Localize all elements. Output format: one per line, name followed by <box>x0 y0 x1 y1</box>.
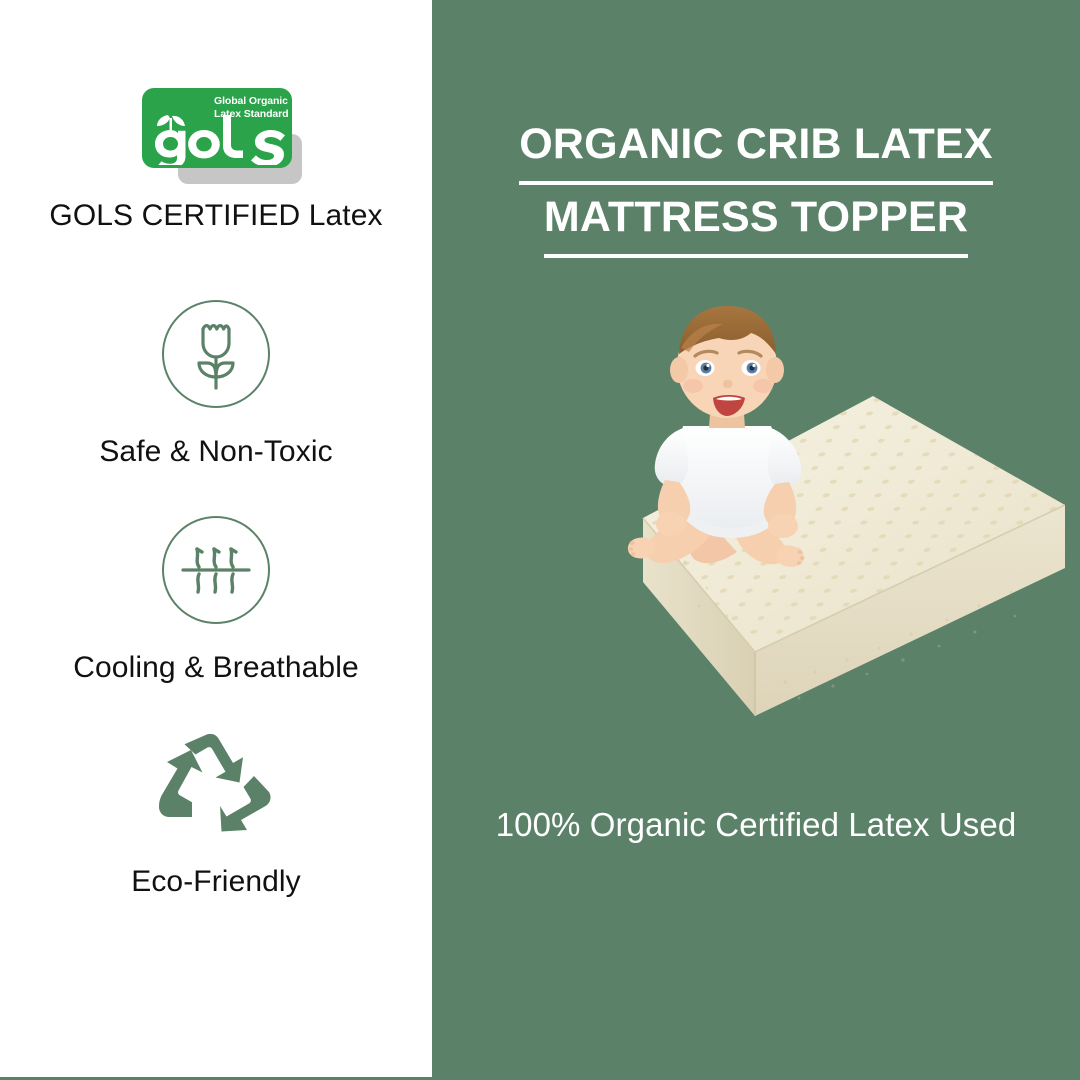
feature-label: GOLS CERTIFIED Latex <box>0 196 432 236</box>
feature-label: Cooling & Breathable <box>0 648 432 688</box>
features-column: Global Organic Latex Standard GOLS CERTI… <box>0 0 432 1080</box>
recycle-icon <box>156 732 276 836</box>
feature-list: GOLS CERTIFIED Latex <box>0 196 432 908</box>
gols-wordmark-icon <box>151 113 291 165</box>
feature-eco-friendly: Eco-Friendly <box>0 732 432 902</box>
baby-on-mattress-illustration <box>455 300 1065 750</box>
feature-label: Safe & Non-Toxic <box>0 432 432 472</box>
infographic-page: Global Organic Latex Standard GOLS CERTI… <box>0 0 1080 1080</box>
page-title: ORGANIC CRIB LATEX MATTRESS TOPPER <box>452 112 1060 258</box>
page-title-line-2: MATTRESS TOPPER <box>544 185 968 258</box>
tulip-flower-icon <box>162 300 270 408</box>
feature-safe-non-toxic: Safe & Non-Toxic <box>0 300 432 472</box>
page-title-line-1: ORGANIC CRIB LATEX <box>519 112 992 185</box>
gols-standard-text: Global Organic Latex Standard <box>214 95 290 120</box>
feature-label: Eco-Friendly <box>0 862 432 902</box>
feature-cooling-breathable: Cooling & Breathable <box>0 516 432 688</box>
product-image <box>455 300 1065 750</box>
product-caption: 100% Organic Certified Latex Used <box>452 806 1060 844</box>
feature-gols-certified: GOLS CERTIFIED Latex <box>0 196 432 236</box>
gols-certification-badge: Global Organic Latex Standard <box>142 88 302 184</box>
airflow-breathable-icon <box>162 516 270 624</box>
